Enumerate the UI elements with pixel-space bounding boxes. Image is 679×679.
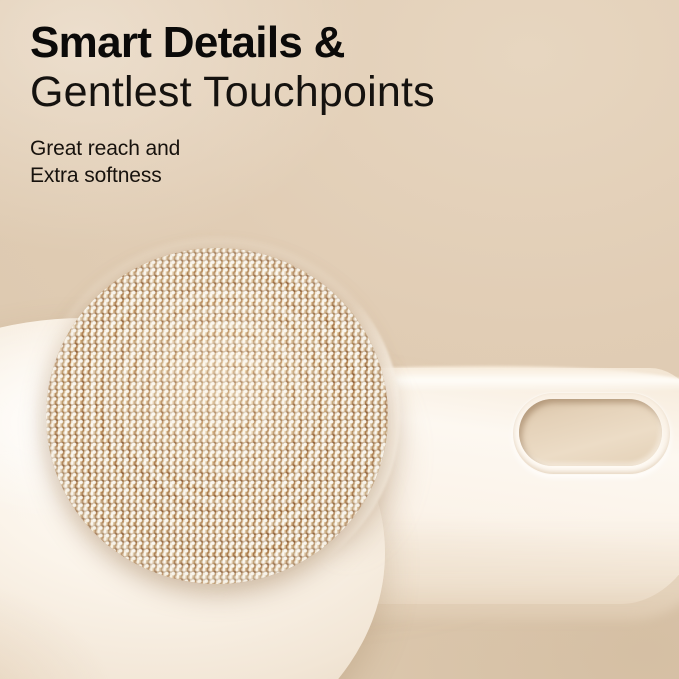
headline-line-2: Gentlest Touchpoints xyxy=(30,68,590,118)
brush-head-rim-light xyxy=(46,248,388,584)
marketing-copy: Smart Details & Gentlest Touchpoints Gre… xyxy=(30,19,590,190)
subheadline-line-1: Great reach and xyxy=(30,135,590,163)
subheadline-line-2: Extra softness xyxy=(30,162,590,190)
brush-head xyxy=(46,248,388,584)
subheadline: Great reach and Extra softness xyxy=(30,135,590,190)
brush-head-disc xyxy=(46,248,388,584)
headline-line-1: Smart Details & xyxy=(30,19,590,66)
hanging-hole xyxy=(519,399,662,466)
product-feature-image: Smart Details & Gentlest Touchpoints Gre… xyxy=(0,0,679,679)
